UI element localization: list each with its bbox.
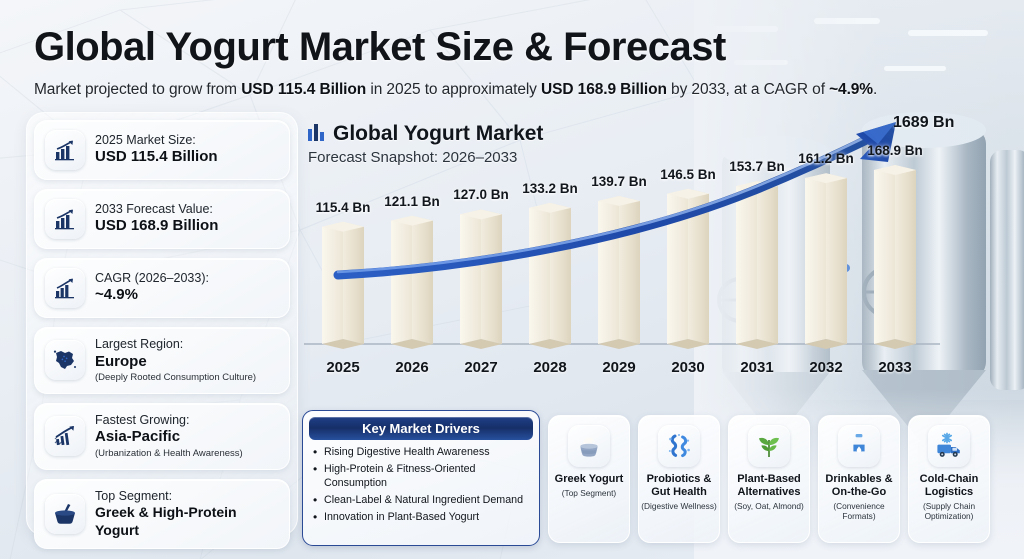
sidebar-item-note: (Deeply Rooted Consumption Culture) (95, 372, 256, 383)
driver-item: Clean-Label & Natural Ingredient Demand (313, 494, 531, 508)
sidebar-item-value: USD 168.9 Billion (95, 217, 218, 236)
sidebar-item-top-segment[interactable]: Top Segment: Greek & High-Protein Yogurt (34, 479, 290, 550)
yogurt-bowl-icon (45, 494, 85, 534)
plant-leaf-icon (748, 425, 790, 467)
sidebar-item-cagr[interactable]: CAGR (2026–2033): ~4.9% (34, 258, 290, 318)
bar-value-label: 161.2 Bn (798, 151, 854, 166)
sidebar-item-label: Fastest Growing: (95, 413, 243, 429)
chart-panel: Global Yogurt Market Forecast Snapshot: … (300, 122, 1000, 407)
sidebar-item-text: Largest Region: Europe (Deeply Rooted Co… (95, 337, 256, 384)
sidebar-item-value: Europe (95, 353, 256, 372)
sidebar-item-market-size-2025[interactable]: 2025 Market Size: USD 115.4 Billion (34, 120, 290, 180)
growth-arrow-endpoint-label: 1689 Bn (893, 114, 954, 132)
key-market-drivers-box: Key Market Drivers Rising Digestive Heal… (302, 410, 540, 546)
sidebar-item-value: USD 115.4 Billion (95, 148, 218, 167)
cold-truck-icon (928, 425, 970, 467)
sidebar-item-label: CAGR (2026–2033): (95, 271, 209, 287)
bar-value-label: 121.1 Bn (384, 194, 440, 209)
drivers-list: Rising Digestive Health AwarenessHigh-Pr… (313, 446, 531, 525)
sidebar-item-text: Top Segment: Greek & High-Protein Yogurt (95, 489, 279, 540)
sidebar-item-value: Greek & High-Protein Yogurt (95, 504, 279, 539)
segment-title: Drinkables & On-the-Go (819, 473, 899, 499)
bar-value-label: 168.9 Bn (867, 143, 923, 158)
driver-item: Innovation in Plant-Based Yogurt (313, 511, 531, 525)
segment-note: (Top Segment) (560, 489, 618, 499)
bar-value-label: 146.5 Bn (660, 167, 716, 182)
gut-health-icon (658, 425, 700, 467)
x-axis-tick-label: 2033 (878, 359, 911, 376)
segment-cards: Greek Yogurt (Top Segment) Probiotics & … (548, 415, 990, 543)
sidebar-item-note: (Urbanization & Health Awareness) (95, 448, 243, 459)
segment-card-probiotics[interactable]: Probiotics & Gut Health (Digestive Welln… (638, 415, 720, 543)
segment-card-greek-yogurt[interactable]: Greek Yogurt (Top Segment) (548, 415, 630, 543)
sidebar-item-largest-region[interactable]: Largest Region: Europe (Deeply Rooted Co… (34, 327, 290, 394)
x-axis-tick-label: 2030 (671, 359, 704, 376)
segment-card-cold-chain[interactable]: Cold-Chain Logistics (Supply Chain Optim… (908, 415, 990, 543)
sidebar-item-value: ~4.9% (95, 286, 209, 305)
x-axis-tick-label: 2031 (740, 359, 773, 376)
sidebar-item-text: CAGR (2026–2033): ~4.9% (95, 271, 209, 305)
x-axis-tick-label: 2029 (602, 359, 635, 376)
segment-title: Cold-Chain Logistics (909, 473, 989, 499)
x-axis-tick-label: 2027 (464, 359, 497, 376)
x-axis-tick-label: 2026 (395, 359, 428, 376)
segment-note: (Digestive Wellness) (639, 502, 718, 512)
bar-chart-growth-icon (45, 130, 85, 170)
sidebar-item-value: Asia-Pacific (95, 428, 243, 447)
sidebar-item-text: 2025 Market Size: USD 115.4 Billion (95, 133, 218, 167)
sidebar-item-label: Top Segment: (95, 489, 279, 505)
trending-up-arrow-icon (45, 416, 85, 456)
segment-note: (Supply Chain Optimization) (909, 502, 989, 522)
driver-item: Rising Digestive Health Awareness (313, 446, 531, 460)
bar-value-label: 139.7 Bn (591, 174, 647, 189)
segment-note: (Convenience Formats) (819, 502, 899, 522)
sidebar-item-label: Largest Region: (95, 337, 256, 353)
bar-chart-growth-icon (45, 199, 85, 239)
page-subtitle: Market projected to grow from USD 115.4 … (34, 81, 994, 99)
bar-value-label: 133.2 Bn (522, 181, 578, 196)
segment-note: (Soy, Oat, Almond) (732, 502, 805, 512)
sidebar-item-forecast-2033[interactable]: 2033 Forecast Value: USD 168.9 Billion (34, 189, 290, 249)
bars-group (322, 165, 916, 349)
bar-value-label: 115.4 Bn (316, 200, 371, 215)
bar-value-label: 153.7 Bn (729, 159, 785, 174)
header: Global Yogurt Market Size & Forecast Mar… (34, 26, 994, 99)
bar-value-label: 127.0 Bn (453, 187, 509, 202)
page-title: Global Yogurt Market Size & Forecast (34, 26, 994, 69)
segment-card-drinkables[interactable]: Drinkables & On-the-Go (Convenience Form… (818, 415, 900, 543)
sidebar-item-label: 2025 Market Size: (95, 133, 218, 149)
segment-card-plant-based[interactable]: Plant-Based Alternatives (Soy, Oat, Almo… (728, 415, 810, 543)
driver-item: High-Protein & Fitness-Oriented Consumpt… (313, 463, 531, 490)
segment-title: Greek Yogurt (555, 473, 624, 486)
bottle-icon (838, 425, 880, 467)
sidebar-item-label: 2033 Forecast Value: (95, 202, 218, 218)
yogurt-bowl-icon (568, 425, 610, 467)
segment-title: Probiotics & Gut Health (639, 473, 719, 499)
x-axis-tick-label: 2028 (533, 359, 566, 376)
sidebar-item-fastest-growing[interactable]: Fastest Growing: Asia-Pacific (Urbanizat… (34, 403, 290, 470)
drivers-heading: Key Market Drivers (309, 417, 533, 440)
x-axis-tick-label: 2025 (326, 359, 359, 376)
europe-map-icon (45, 340, 85, 380)
sidebar: 2025 Market Size: USD 115.4 Billion 2033… (34, 120, 290, 558)
sidebar-item-text: Fastest Growing: Asia-Pacific (Urbanizat… (95, 413, 243, 460)
x-axis-tick-label: 2032 (809, 359, 842, 376)
segment-title: Plant-Based Alternatives (729, 473, 809, 499)
bar-chart-growth-icon (45, 268, 85, 308)
sidebar-item-text: 2033 Forecast Value: USD 168.9 Billion (95, 202, 218, 236)
